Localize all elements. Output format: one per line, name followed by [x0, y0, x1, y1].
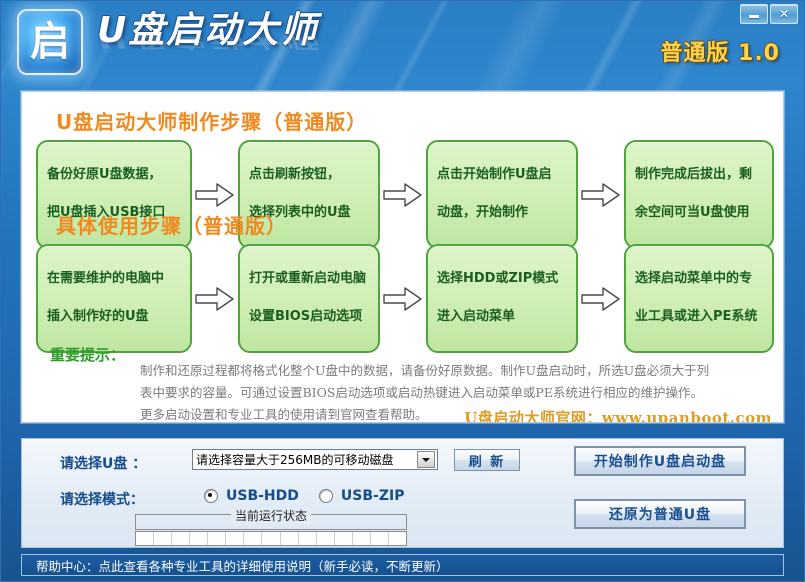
guide-panel: U盘启动大师制作步骤（普通版） 备份好原U盘数据， 把U盘插入USB接口 点击刷…: [21, 91, 784, 423]
chevron-down-icon[interactable]: [417, 451, 435, 468]
use-step-3-line1: 选择HDD或ZIP模式: [437, 270, 567, 289]
arrow-right-icon: [192, 182, 238, 208]
usb-disk-select[interactable]: 请选择容量大于256MB的可移动磁盘: [192, 449, 438, 470]
make-step-3: 点击开始制作U盘启 动盘，开始制作: [426, 140, 578, 249]
mode-select-label: 请选择模式：: [60, 489, 144, 509]
important-notice: 重要提示： 制作和还原过程都将格式化整个U盘中的数据，请备份好原数据。制作U盘启…: [36, 344, 772, 423]
use-step-3-line2: 进入启动菜单: [437, 308, 567, 327]
radio-usb-hdd-dot[interactable]: [204, 489, 218, 503]
app-logo-icon: 启: [17, 9, 83, 75]
use-step-4: 选择启动菜单中的专 业工具或进入PE系统: [624, 244, 774, 353]
radio-usb-zip[interactable]: USB-ZIP: [319, 488, 405, 504]
radio-usb-zip-label: USB-ZIP: [341, 488, 405, 504]
titlebar-buttons: ✕: [740, 4, 798, 24]
notice-line-1: 制作和还原过程都将格式化整个U盘中的数据，请备份好原数据。制作U盘启动时，所选U…: [140, 360, 770, 382]
use-step-3: 选择HDD或ZIP模式 进入启动菜单: [426, 244, 578, 353]
help-center-bar[interactable]: 帮助中心：点此查看各种专业工具的详细使用说明（新手必读，不断更新）: [21, 554, 784, 576]
disk-select-label: 请选择U盘 ：: [60, 453, 146, 473]
use-step-1-line1: 在需要维护的电脑中: [47, 270, 181, 289]
use-steps-heading: 具体使用步骤（普通版）: [56, 210, 287, 239]
make-step-3-line1: 点击开始制作U盘启: [437, 166, 567, 185]
use-step-2-line1: 打开或重新启动电脑: [249, 270, 369, 289]
use-steps-flow: 在需要维护的电脑中 插入制作好的U盘 打开或重新启动电脑 设置BIOS启动选项 …: [36, 244, 776, 353]
app-title-reflection: U盘启动大师: [97, 36, 318, 50]
minimize-icon: [749, 15, 759, 18]
official-website-link[interactable]: U盘启动大师官网：www.upanboot.com: [464, 407, 772, 423]
run-status-group: 当前运行状态: [135, 514, 407, 546]
make-steps-heading: U盘启动大师制作步骤（普通版）: [56, 106, 367, 135]
use-step-1-line2: 插入制作好的U盘: [47, 308, 181, 327]
make-step-4-line2: 余空间可当U盘使用: [635, 204, 763, 223]
make-step-4-line1: 制作完成后拔出，剩: [635, 166, 763, 185]
arrow-right-icon: [578, 286, 624, 312]
close-icon: ✕: [779, 8, 789, 20]
make-step-1-line1: 备份好原U盘数据，: [47, 166, 181, 185]
radio-usb-hdd[interactable]: USB-HDD: [204, 488, 299, 504]
app-logo-glyph: 启: [30, 22, 70, 62]
radio-usb-hdd-label: USB-HDD: [226, 488, 299, 504]
use-step-4-line2: 业工具或进入PE系统: [635, 308, 763, 327]
version-label: 普通版 1.0: [660, 35, 780, 67]
restore-usb-button[interactable]: 还原为普通U盘: [574, 499, 746, 529]
make-step-2-line1: 点击刷新按钮，: [249, 166, 369, 185]
application-window: ✕ 启 U盘启动大师 U盘启动大师 普通版 1.0 U盘启动大师制作步骤（普通版…: [0, 0, 805, 582]
refresh-button[interactable]: 刷 新: [454, 449, 520, 471]
start-make-usb-button[interactable]: 开始制作U盘启动盘: [574, 446, 746, 476]
run-status-legend: 当前运行状态: [231, 507, 311, 524]
close-button[interactable]: ✕: [770, 4, 798, 24]
arrow-right-icon: [380, 286, 426, 312]
radio-usb-zip-dot[interactable]: [319, 489, 333, 503]
arrow-right-icon: [578, 182, 624, 208]
make-step-4: 制作完成后拔出，剩 余空间可当U盘使用: [624, 140, 774, 249]
brand-title-wrap: U盘启动大师 U盘启动大师: [97, 9, 318, 72]
progress-bar: [135, 531, 407, 546]
usb-disk-select-value: 请选择容量大于256MB的可移动磁盘: [193, 451, 417, 468]
use-step-1: 在需要维护的电脑中 插入制作好的U盘: [36, 244, 192, 353]
use-step-4-line1: 选择启动菜单中的专: [635, 270, 763, 289]
help-center-text: 帮助中心：点此查看各种专业工具的详细使用说明（新手必读，不断更新）: [22, 556, 449, 575]
arrow-right-icon: [380, 182, 426, 208]
arrow-right-icon: [192, 286, 238, 312]
mode-radio-group: USB-HDD USB-ZIP: [204, 488, 404, 504]
brand-header: 启 U盘启动大师 U盘启动大师: [17, 9, 318, 75]
use-step-2-line2: 设置BIOS启动选项: [249, 308, 369, 327]
use-step-2: 打开或重新启动电脑 设置BIOS启动选项: [238, 244, 380, 353]
make-step-3-line2: 动盘，开始制作: [437, 204, 567, 223]
minimize-button[interactable]: [740, 4, 768, 24]
window-frame: ✕ 启 U盘启动大师 U盘启动大师 普通版 1.0 U盘启动大师制作步骤（普通版…: [0, 0, 805, 582]
notice-line-2: 表中要求的容量。可通过设置BIOS启动选项或启动热键进入启动菜单或PE系统进行相…: [140, 382, 770, 404]
notice-title: 重要提示：: [50, 344, 125, 365]
